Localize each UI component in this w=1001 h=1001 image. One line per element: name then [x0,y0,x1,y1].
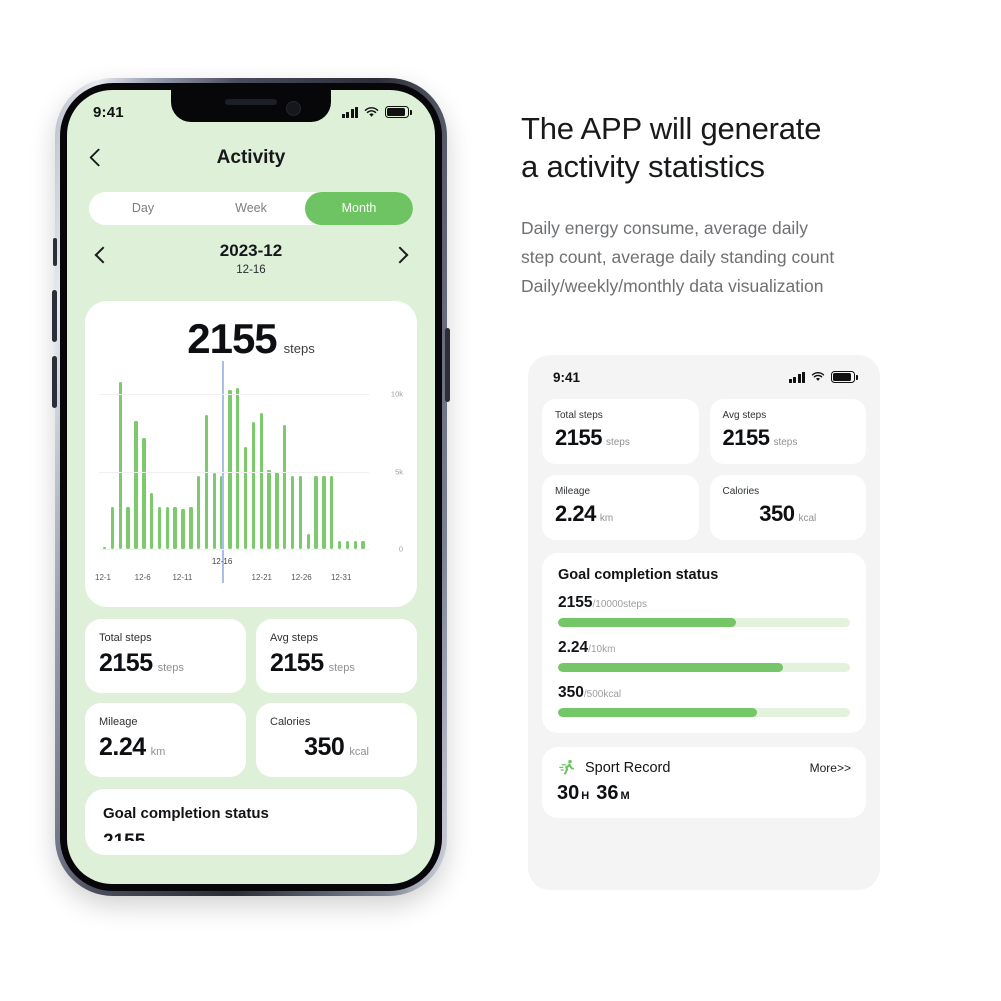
battery-icon [831,371,855,383]
sport-record-title: Sport Record [585,760,670,776]
chart-y-tick-label: 5k [395,467,403,476]
date-day-label: 12-16 [111,264,391,276]
goal-progress-track [558,663,850,672]
chart-bar[interactable] [236,388,239,549]
chart-gridline [99,472,369,473]
chart-x-tick-label: 12-16 [212,557,232,566]
sport-hours-unit: H [581,790,589,802]
stat-unit: km [151,746,166,758]
goal-item-steps: 2155 /10000steps [558,594,850,627]
date-display: 2023-12 12-16 [111,241,391,276]
wifi-icon [811,372,825,382]
steps-summary: 2155 steps [85,317,417,361]
goal-item-calories: 350 /500kcal [558,684,850,717]
tab-day[interactable]: Day [89,192,197,225]
chart-bar[interactable] [197,476,200,549]
chart-gridline [99,394,369,395]
chart-bar[interactable] [283,425,286,549]
sub-copy-line-2: step count, average daily standing count [521,243,981,272]
chart-bar[interactable] [252,422,255,549]
sport-record-card[interactable]: Sport Record More>> 30 H 36 M [542,747,866,818]
panel-stat-card-mileage[interactable]: Mileage 2.24 km [542,475,699,540]
stat-unit: steps [773,437,797,448]
goal-item-distance: 2.24 /10km [558,639,850,672]
stat-unit: kcal [349,746,369,758]
tab-month[interactable]: Month [305,192,413,225]
chart-bar[interactable] [275,472,278,549]
stat-unit: kcal [798,513,816,524]
stat-label: Calories [723,486,854,497]
goal-title: Goal completion status [103,805,399,822]
tab-week[interactable]: Week [197,192,305,225]
goal-target: /10000steps [592,599,647,610]
phone-nav-bar: Activity [67,134,435,182]
page-title: Activity [67,147,435,169]
goal-current: 2.24 [558,639,588,657]
chart-bar[interactable] [158,507,161,549]
signal-bars-icon [789,372,806,383]
phone-goal-card: Goal completion status 2155 [85,789,417,855]
date-navigator: 2023-12 12-16 [67,241,435,287]
running-person-icon [557,758,577,778]
stat-card-mileage[interactable]: Mileage 2.24 km [85,703,246,777]
stat-label: Avg steps [723,410,854,421]
chart-bar[interactable] [307,534,310,549]
goal-progress-fill [558,663,783,672]
steps-chart-card: 2155 steps 05k10k 12-112-612-1112-1612-2… [85,301,417,607]
date-month-label: 2023-12 [111,241,391,261]
stat-value: 2155 [270,649,324,678]
stat-value: 2.24 [99,733,146,762]
goal-progress-track [558,618,850,627]
chart-bar[interactable] [314,476,317,549]
headline-line-1: The APP will generate [521,110,981,148]
chart-bar[interactable] [150,493,153,549]
stat-label: Mileage [555,486,686,497]
chart-bar[interactable] [354,541,357,549]
stat-unit: steps [158,662,184,674]
phone-volume-up-button[interactable] [52,290,57,342]
next-period-button[interactable] [391,245,411,265]
chart-bar[interactable] [322,476,325,549]
prev-period-button[interactable] [91,245,111,265]
goal-current: 350 [558,684,584,702]
panel-stat-grid: Total steps 2155 steps Avg steps 2155 st… [542,399,866,540]
panel-status-bar-time: 9:41 [553,370,580,385]
chart-bar[interactable] [346,541,349,549]
chart-x-axis: 12-112-612-1112-1612-2112-2612-31 [99,557,403,591]
goal-current: 2155 [558,594,592,612]
chart-bar[interactable] [213,473,216,549]
wifi-icon [364,107,379,118]
panel-stat-card-calories[interactable]: Calories 350 kcal [710,475,867,540]
stat-value: 2155 [723,425,770,451]
panel-status-bar-icons [789,371,856,383]
phone-power-button[interactable] [445,328,450,402]
goal-first-value-peek: 2155 [103,831,399,841]
sport-record-duration: 30 H 36 M [557,782,851,805]
steps-summary-unit: steps [284,341,315,356]
goal-target: /500kcal [584,689,621,700]
chart-bar[interactable] [119,382,122,549]
chart-bar[interactable] [267,470,270,549]
headline: The APP will generate a activity statist… [521,110,981,186]
chart-bar[interactable] [173,507,176,549]
stat-card-avg-steps[interactable]: Avg steps 2155 steps [256,619,417,693]
chart-x-tick-label: 12-1 [95,573,111,582]
stat-card-total-steps[interactable]: Total steps 2155 steps [85,619,246,693]
headline-line-2: a activity statistics [521,148,981,186]
goal-title: Goal completion status [558,567,850,583]
chart-gridline [99,549,369,550]
sport-minutes-value: 36 [596,782,618,805]
chart-bar[interactable] [205,415,208,549]
status-bar-time: 9:41 [93,104,124,121]
sport-hours-value: 30 [557,782,579,805]
signal-bars-icon [342,107,359,118]
sub-copy-line-1: Daily energy consume, average daily [521,214,981,243]
chart-drag-handle[interactable] [235,591,267,607]
chart-x-tick-label: 12-11 [172,573,192,582]
chart-bar[interactable] [166,507,169,549]
panel-stat-card-total-steps[interactable]: Total steps 2155 steps [542,399,699,464]
chart-bar[interactable] [134,421,137,549]
chart-y-tick-label: 0 [399,545,403,554]
panel-status-bar: 9:41 [542,355,866,399]
stat-unit: steps [329,662,355,674]
stat-value: 2155 [99,649,153,678]
chart-bar[interactable] [189,507,192,549]
stats-panel: 9:41 Total steps 2155 steps Avg [528,355,880,890]
stat-label: Avg steps [270,632,403,644]
chart-bar[interactable] [338,541,341,549]
sport-minutes-unit: M [620,790,629,802]
stat-label: Total steps [99,632,232,644]
chart-bar[interactable] [291,476,294,549]
chart-bar[interactable] [181,509,184,549]
stat-card-calories[interactable]: Calories 350 kcal [256,703,417,777]
sub-copy-line-3: Daily/weekly/monthly data visualization [521,272,981,301]
chart-y-tick-label: 10k [391,390,403,399]
battery-icon [385,106,409,118]
stat-value: 350 [759,501,794,527]
chart-bars [103,379,365,549]
sport-record-more-link[interactable]: More>> [810,761,851,775]
page-root: 9:41 Activity Day Week Month [0,0,1001,1001]
stat-label: Total steps [555,410,686,421]
phone-volume-down-button[interactable] [52,356,57,408]
chart-x-tick-label: 12-21 [252,573,272,582]
steps-summary-value: 2155 [187,317,276,361]
marketing-copy: The APP will generate a activity statist… [521,110,981,301]
goal-progress-fill [558,618,736,627]
sub-copy: Daily energy consume, average daily step… [521,214,981,301]
steps-bar-chart[interactable]: 05k10k [99,379,403,549]
phone-stat-grid: Total steps 2155 steps Avg steps 2155 st… [85,619,417,777]
status-bar-icons [342,106,410,118]
stat-value: 2155 [555,425,602,451]
chart-x-tick-label: 12-6 [135,573,151,582]
chart-x-tick-label: 12-26 [291,573,311,582]
chart-bar[interactable] [228,390,231,549]
phone-mute-switch[interactable] [53,238,57,266]
chart-bar[interactable] [299,476,302,549]
stat-label: Calories [270,716,403,728]
back-button[interactable] [85,147,107,169]
goal-progress-fill [558,708,757,717]
chart-x-tick-label: 12-31 [331,573,351,582]
stat-unit: km [600,513,613,524]
phone-status-bar: 9:41 [67,90,435,134]
stat-value: 350 [304,733,344,762]
chart-bar[interactable] [260,413,263,549]
panel-goal-card: Goal completion status 2155 /10000steps … [542,553,866,733]
goal-target: /10km [588,644,615,655]
phone-screen: 9:41 Activity Day Week Month [67,90,435,884]
chart-bar[interactable] [244,447,247,549]
chart-bar[interactable] [330,476,333,549]
chart-bar[interactable] [361,541,364,549]
period-segmented-control[interactable]: Day Week Month [89,192,413,225]
chart-bar[interactable] [111,507,114,549]
stat-value: 2.24 [555,501,596,527]
goal-progress-track [558,708,850,717]
chart-bar[interactable] [142,438,145,549]
panel-stat-card-avg-steps[interactable]: Avg steps 2155 steps [710,399,867,464]
stat-unit: steps [606,437,630,448]
phone-mockup: 9:41 Activity Day Week Month [55,78,447,896]
chart-bar[interactable] [126,507,129,549]
stat-label: Mileage [99,716,232,728]
